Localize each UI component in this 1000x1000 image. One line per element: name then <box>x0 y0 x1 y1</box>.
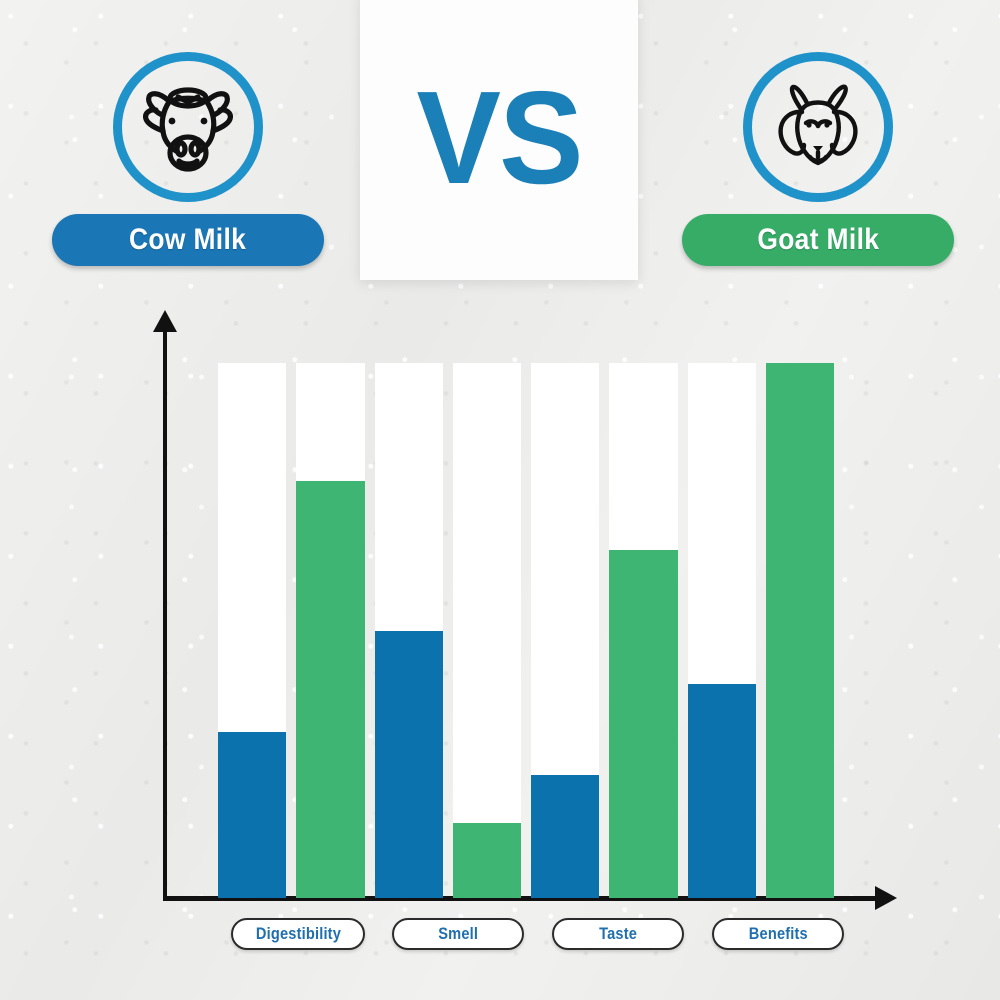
cow-milk-panel[interactable]: Cow Milk <box>18 0 358 290</box>
bar-smell-goat[interactable] <box>453 823 521 898</box>
bar-taste-goat[interactable] <box>609 550 677 898</box>
cow-icon-circle <box>113 52 263 202</box>
category-label-text: Digestibility <box>255 924 340 944</box>
bar-track <box>766 363 834 898</box>
y-axis-line <box>163 328 167 900</box>
comparison-header: Cow Milk VS <box>0 0 1000 300</box>
category-cell: Smell <box>378 918 538 950</box>
bar-track <box>453 363 521 898</box>
bar-track <box>531 363 599 898</box>
goat-milk-panel[interactable]: Goat Milk <box>648 0 988 290</box>
x-axis-arrow-icon <box>875 886 897 910</box>
goat-head-icon <box>766 81 870 173</box>
category-label-smell[interactable]: Smell <box>392 918 524 950</box>
bar-benefits-goat[interactable] <box>766 363 834 898</box>
cow-milk-label: Cow Milk <box>129 223 246 257</box>
y-axis-arrow-icon <box>153 310 177 332</box>
bar-track <box>609 363 677 898</box>
category-label-text: Taste <box>599 924 637 944</box>
goat-milk-label-pill[interactable]: Goat Milk <box>682 214 954 266</box>
bar-taste-cow[interactable] <box>531 775 599 898</box>
cow-milk-label-pill[interactable]: Cow Milk <box>52 214 324 266</box>
bar-benefits-cow[interactable] <box>688 684 756 898</box>
category-axis-labels: DigestibilitySmellTasteBenefits <box>218 918 858 950</box>
category-label-taste[interactable]: Taste <box>552 918 684 950</box>
category-cell: Digestibility <box>218 918 378 950</box>
bar-digestibility-goat[interactable] <box>296 481 364 898</box>
bar-track <box>688 363 756 898</box>
category-cell: Benefits <box>698 918 858 950</box>
category-label-text: Smell <box>438 924 478 944</box>
goat-milk-label: Goat Milk <box>757 223 879 257</box>
bar-digestibility-cow[interactable] <box>218 732 286 898</box>
bar-track <box>218 363 286 898</box>
category-cell: Taste <box>538 918 698 950</box>
goat-icon-circle <box>743 52 893 202</box>
bar-smell-cow[interactable] <box>375 631 443 899</box>
vs-card: VS <box>360 0 638 280</box>
comparison-bar-chart: DigestibilitySmellTasteBenefits <box>0 300 1000 1000</box>
bar-track <box>296 363 364 898</box>
category-label-digestibility[interactable]: Digestibility <box>231 918 366 950</box>
category-label-text: Benefits <box>748 924 807 944</box>
vs-label: VS <box>416 72 581 204</box>
bar-track <box>375 363 443 898</box>
plot-area <box>218 363 834 898</box>
cow-head-icon <box>136 81 240 173</box>
category-label-benefits[interactable]: Benefits <box>712 918 844 950</box>
